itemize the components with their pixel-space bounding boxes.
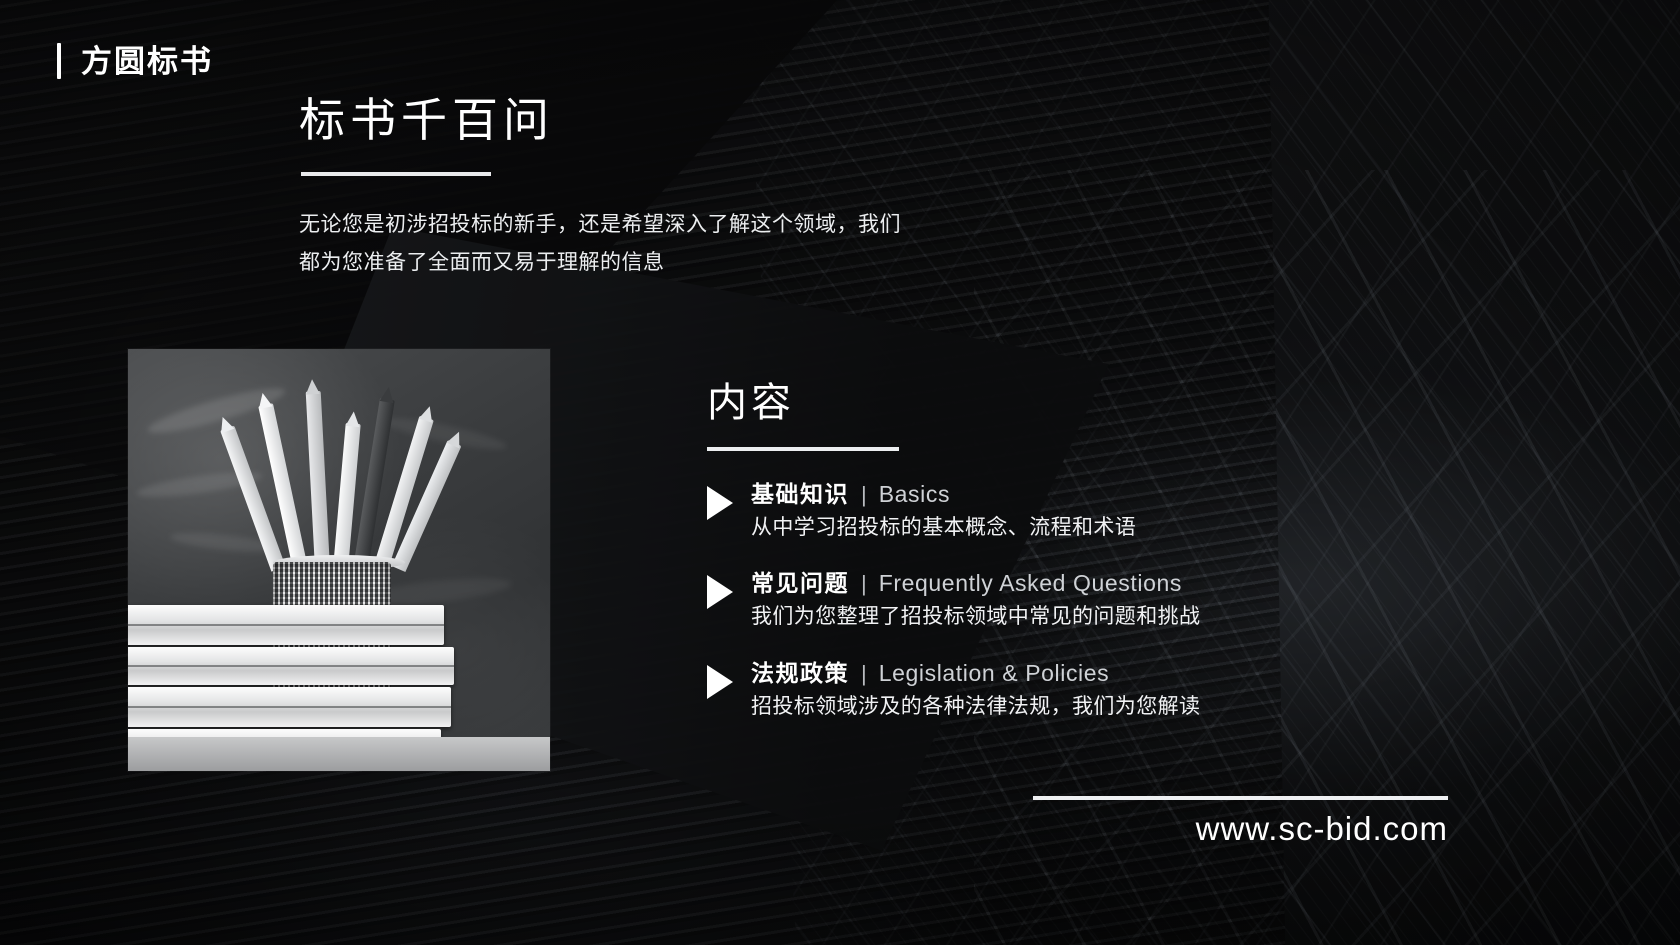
brand-name: 方圆标书	[81, 46, 213, 77]
pipe-divider-icon: |	[861, 569, 867, 599]
triangle-bullet-icon	[707, 665, 733, 699]
contents-item-description: 从中学习招投标的基本概念、流程和术语	[751, 514, 1136, 542]
book-item	[128, 605, 444, 645]
contents-title: 内容	[707, 381, 1407, 425]
contents-item-label-en: Basics	[879, 479, 950, 510]
contents-item-body: 常见问题 | Frequently Asked Questions 我们为您整理…	[751, 568, 1200, 631]
contents-item-body: 法规政策 | Legislation & Policies 招投标领域涉及的各种…	[751, 658, 1200, 721]
footer-divider	[1033, 796, 1448, 800]
contents-item-label-en: Frequently Asked Questions	[879, 568, 1182, 599]
contents-item-description: 我们为您整理了招投标领域中常见的问题和挑战	[751, 603, 1200, 631]
book-item	[128, 687, 451, 727]
contents-item-legislation[interactable]: 法规政策 | Legislation & Policies 招投标领域涉及的各种…	[707, 658, 1407, 721]
triangle-bullet-icon	[707, 575, 733, 609]
contents-item-basics[interactable]: 基础知识 | Basics 从中学习招投标的基本概念、流程和术语	[707, 479, 1407, 542]
hero-subtitle-line-2: 都为您准备了全面而又易于理解的信息	[299, 244, 901, 282]
brand-logo[interactable]: 方圆标书	[57, 43, 213, 79]
contents-item-description: 招投标领域涉及的各种法律法规，我们为您解读	[751, 693, 1200, 721]
pipe-divider-icon: |	[861, 480, 867, 510]
book-item	[128, 647, 454, 685]
contents-item-heading: 常见问题 | Frequently Asked Questions	[751, 568, 1200, 599]
pipe-divider-icon: |	[861, 659, 867, 689]
hero-subtitle-line-1: 无论您是初涉招投标的新手，还是希望深入了解这个领域，我们	[299, 206, 901, 244]
contents-item-faq[interactable]: 常见问题 | Frequently Asked Questions 我们为您整理…	[707, 568, 1407, 631]
contents-underline	[707, 447, 899, 451]
contents-item-label-en: Legislation & Policies	[879, 658, 1110, 689]
slide-root: 方圆标书 标书千百问 无论您是初涉招投标的新手，还是希望深入了解这个领域，我们 …	[0, 0, 1680, 945]
page-title: 标书千百问	[299, 92, 901, 148]
pencils-group	[265, 389, 413, 569]
illustration-photo	[128, 349, 550, 771]
hero-block: 标书千百问 无论您是初涉招投标的新手，还是希望深入了解这个领域，我们 都为您准备…	[299, 92, 901, 283]
contents-panel: 内容 基础知识 | Basics 从中学习招投标的基本概念、流程和术语 常见问题…	[707, 381, 1407, 747]
triangle-bullet-icon	[707, 486, 733, 520]
desk-surface	[128, 737, 550, 771]
contents-item-heading: 基础知识 | Basics	[751, 479, 1136, 510]
contents-item-label-cn: 法规政策	[751, 658, 849, 689]
title-underline	[301, 172, 491, 176]
contents-item-heading: 法规政策 | Legislation & Policies	[751, 658, 1200, 689]
contents-item-label-cn: 常见问题	[751, 568, 849, 599]
footer-website-url[interactable]: www.sc-bid.com	[1033, 810, 1448, 848]
pencil-icon	[306, 391, 330, 570]
vertical-bar-icon	[57, 43, 61, 79]
contents-item-label-cn: 基础知识	[751, 479, 849, 510]
contents-item-body: 基础知识 | Basics 从中学习招投标的基本概念、流程和术语	[751, 479, 1136, 542]
